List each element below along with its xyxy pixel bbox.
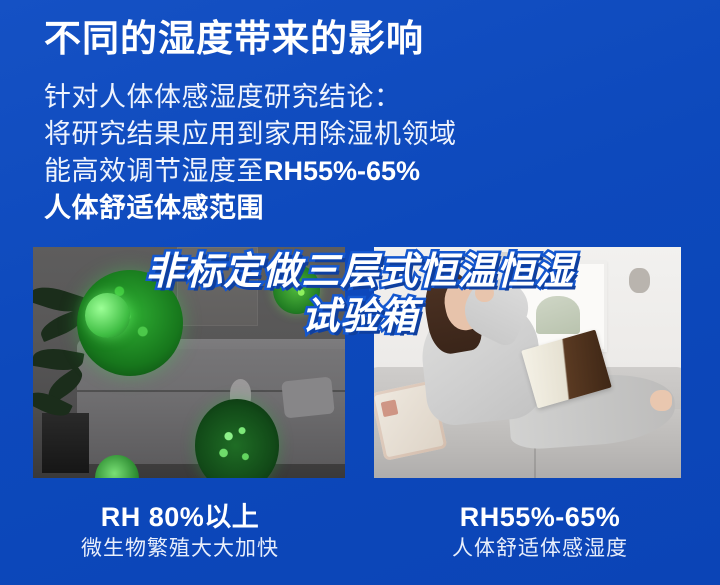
intro-paragraph: 针对人体体感湿度研究结论： 将研究结果应用到家用除湿机领域 能高效调节湿度至RH… (44, 79, 457, 227)
paragraph-line-4: 人体舒适体感范围 (44, 190, 457, 227)
wall-shelf (485, 252, 553, 261)
person-foot (650, 390, 671, 411)
caption-left-subtitle: 微生物繁殖大大加快 (0, 534, 360, 564)
photo-right-comfort-humidity (374, 247, 681, 478)
sofa-seam (534, 446, 536, 478)
caption-left-title: RH 80%以上 (0, 500, 360, 534)
paragraph-line-1: 针对人体体感湿度研究结论： (44, 79, 457, 116)
caption-right-subtitle: 人体舒适体感湿度 (360, 534, 720, 564)
microbe-icon (77, 270, 183, 376)
page-title: 不同的湿度带来的影响 (44, 16, 424, 62)
microbe-icon (273, 265, 320, 314)
caption-left: RH 80%以上 微生物繁殖大大加快 (0, 500, 360, 564)
caption-right: RH55%-65% 人体舒适体感湿度 (360, 500, 720, 564)
wall-panel (177, 247, 258, 326)
photo-row (0, 247, 720, 479)
poster-root: 不同的湿度带来的影响 针对人体体感湿度研究结论： 将研究结果应用到家用除湿机领域… (0, 0, 720, 585)
wall-speaker (629, 268, 650, 293)
person-hand (475, 284, 493, 302)
dark-room-background (33, 247, 345, 478)
caption-row: RH 80%以上 微生物繁殖大大加快 RH55%-65% 人体舒适体感湿度 (0, 500, 720, 580)
humidity-range-emphasis: RH55%-65% (264, 156, 420, 186)
caption-right-title: RH55%-65% (360, 500, 720, 534)
light-room-background (374, 247, 681, 478)
photo-left-high-humidity (33, 247, 345, 478)
paragraph-line-3-prefix: 能高效调节湿度至 (44, 156, 264, 186)
plant-pot (42, 413, 89, 473)
paragraph-line-3: 能高效调节湿度至RH55%-65% (44, 153, 457, 190)
sofa-cushion (281, 376, 334, 418)
paragraph-line-2: 将研究结果应用到家用除湿机领域 (44, 116, 457, 153)
